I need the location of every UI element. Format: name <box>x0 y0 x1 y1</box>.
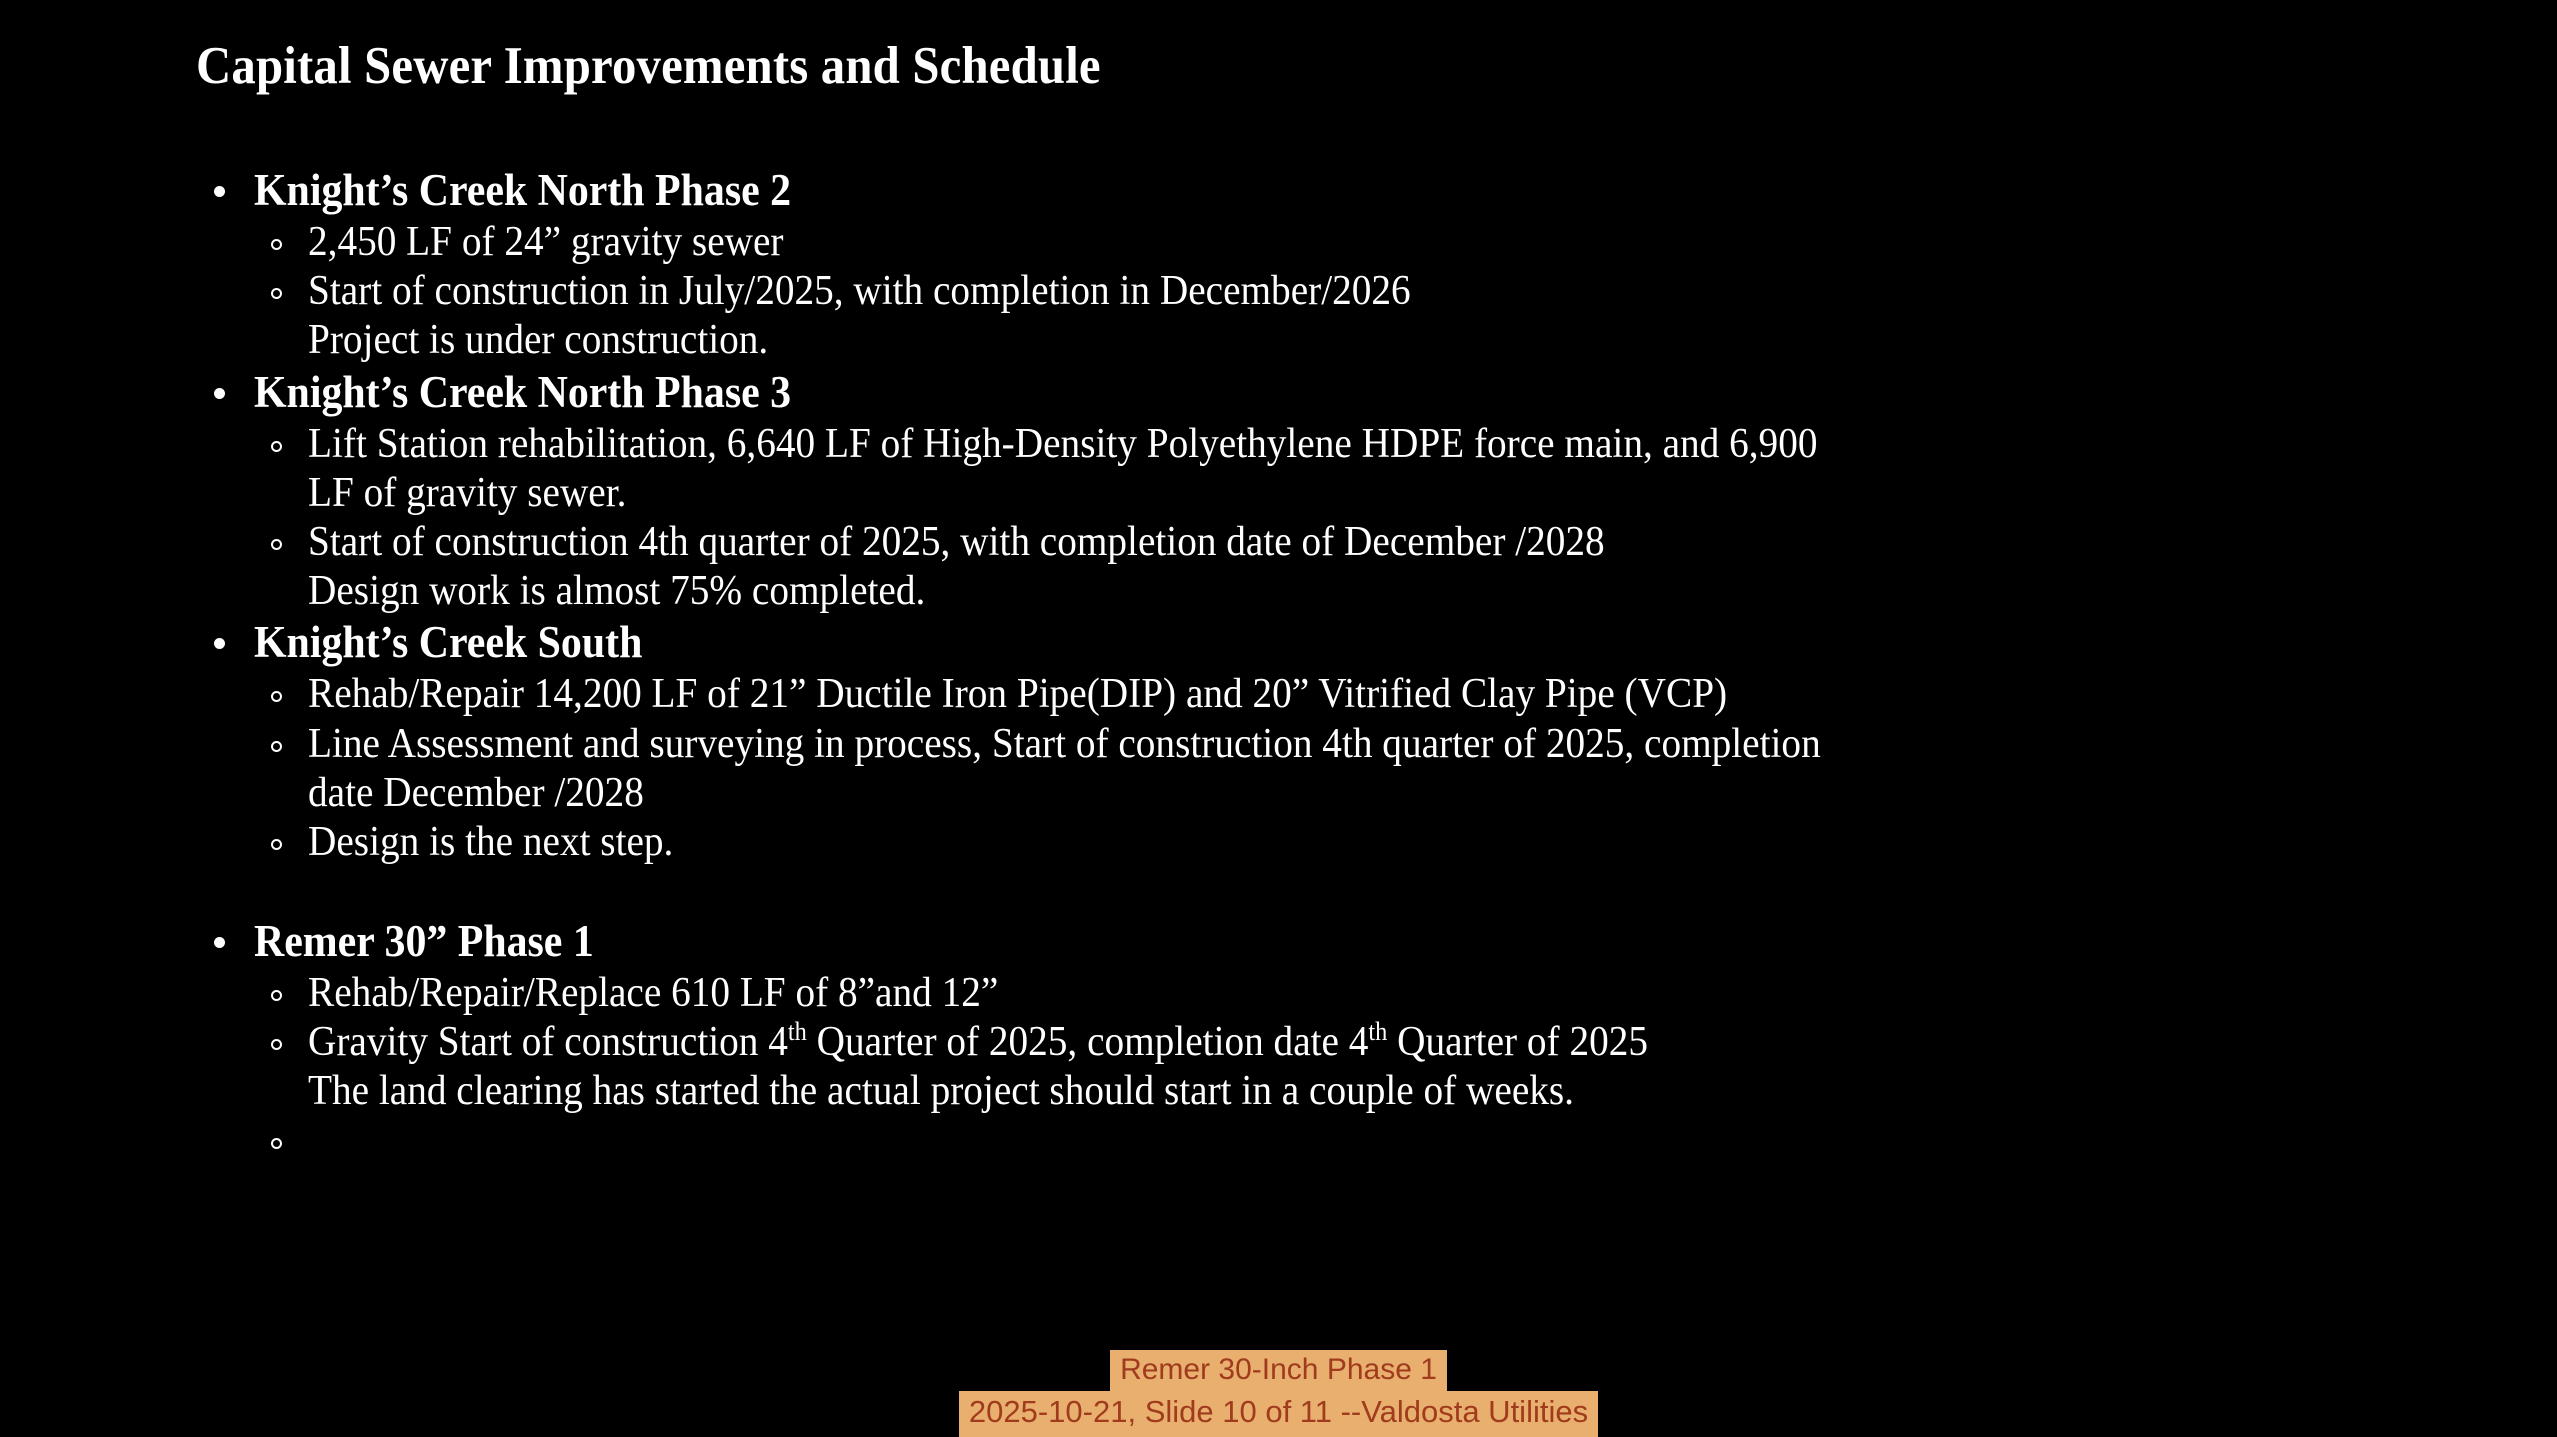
list-item: Rehab/Repair/Replace 610 LF of 8”and 12” <box>196 969 2526 1018</box>
caption-project-name: Remer 30-Inch Phase 1 <box>1110 1350 1447 1392</box>
list-item-label: The land clearing has started the actual… <box>308 1067 1574 1116</box>
list-item-label: Design is the next step. <box>308 818 673 867</box>
list-item-label: Start of construction in July/2025, with… <box>308 267 1411 316</box>
caption-overlay: Remer 30-Inch Phase 1 2025-10-21, Slide … <box>0 1350 2557 1437</box>
list-item-label: date December /2028 <box>308 769 644 818</box>
list-item-label: Rehab/Repair/Replace 610 LF of 8”and 12” <box>308 969 998 1018</box>
section-heading-label: Knight’s Creek North Phase 2 <box>254 164 791 216</box>
list-item: Line Assessment and surveying in process… <box>196 720 2526 769</box>
list-item-label: LF of gravity sewer. <box>308 469 626 518</box>
list-item-continuation: Project is under construction. <box>196 316 2526 365</box>
list-item-continuation: LF of gravity sewer. <box>196 469 2526 518</box>
section-heading: Knight’s Creek North Phase 2 <box>196 164 2526 216</box>
list-item: Start of construction in July/2025, with… <box>196 267 2526 316</box>
section-heading: Knight’s Creek North Phase 3 <box>196 366 2526 418</box>
text-segment: Gravity Start of construction 4 <box>308 1019 788 1065</box>
list-item: Design is the next step. <box>196 818 2526 867</box>
list-item: Start of construction 4th quarter of 202… <box>196 518 2526 567</box>
list-item-empty <box>196 1117 2526 1166</box>
list-item-label-rich: Gravity Start of construction 4th Quarte… <box>308 1018 1648 1067</box>
ordinal-suffix: th <box>1368 1017 1387 1046</box>
list-item: 2,450 LF of 24” gravity sewer <box>196 218 2526 267</box>
list-item-label: Start of construction 4th quarter of 202… <box>308 518 1605 567</box>
list-item: Lift Station rehabilitation, 6,640 LF of… <box>196 420 2526 469</box>
list-item-continuation: date December /2028 <box>196 769 2526 818</box>
page-title: Capital Sewer Improvements and Schedule <box>196 36 1101 96</box>
section-heading-label: Knight’s Creek South <box>254 616 642 668</box>
caption-slide-info: 2025-10-21, Slide 10 of 11 --Valdosta Ut… <box>959 1391 1598 1437</box>
section-heading-label: Knight’s Creek North Phase 3 <box>254 366 791 418</box>
list-item-label: 2,450 LF of 24” gravity sewer <box>308 218 784 267</box>
list-item-label: Design work is almost 75% completed. <box>308 567 925 616</box>
section-heading: Remer 30” Phase 1 <box>196 915 2526 967</box>
list-item: Gravity Start of construction 4th Quarte… <box>196 1018 2526 1067</box>
text-segment: Quarter of 2025, completion date 4 <box>807 1019 1369 1065</box>
list-item-label: Project is under construction. <box>308 316 768 365</box>
text-segment: Quarter of 2025 <box>1387 1019 1648 1065</box>
list-item-label: Lift Station rehabilitation, 6,640 LF of… <box>308 420 1817 469</box>
section-heading: Knight’s Creek South <box>196 616 2526 668</box>
list-item-continuation: The land clearing has started the actual… <box>196 1067 2526 1116</box>
section-spacer <box>196 867 2526 915</box>
section-heading-label: Remer 30” Phase 1 <box>254 915 594 967</box>
slide-body: Knight’s Creek North Phase 2 2,450 LF of… <box>196 164 2526 1166</box>
list-item-label: Rehab/Repair 14,200 LF of 21” Ductile Ir… <box>308 670 1727 719</box>
list-item-continuation: Design work is almost 75% completed. <box>196 567 2526 616</box>
ordinal-suffix: th <box>788 1017 807 1046</box>
slide-canvas: Capital Sewer Improvements and Schedule … <box>0 0 2557 1437</box>
list-item-label: Line Assessment and surveying in process… <box>308 720 1821 769</box>
list-item: Rehab/Repair 14,200 LF of 21” Ductile Ir… <box>196 670 2526 719</box>
